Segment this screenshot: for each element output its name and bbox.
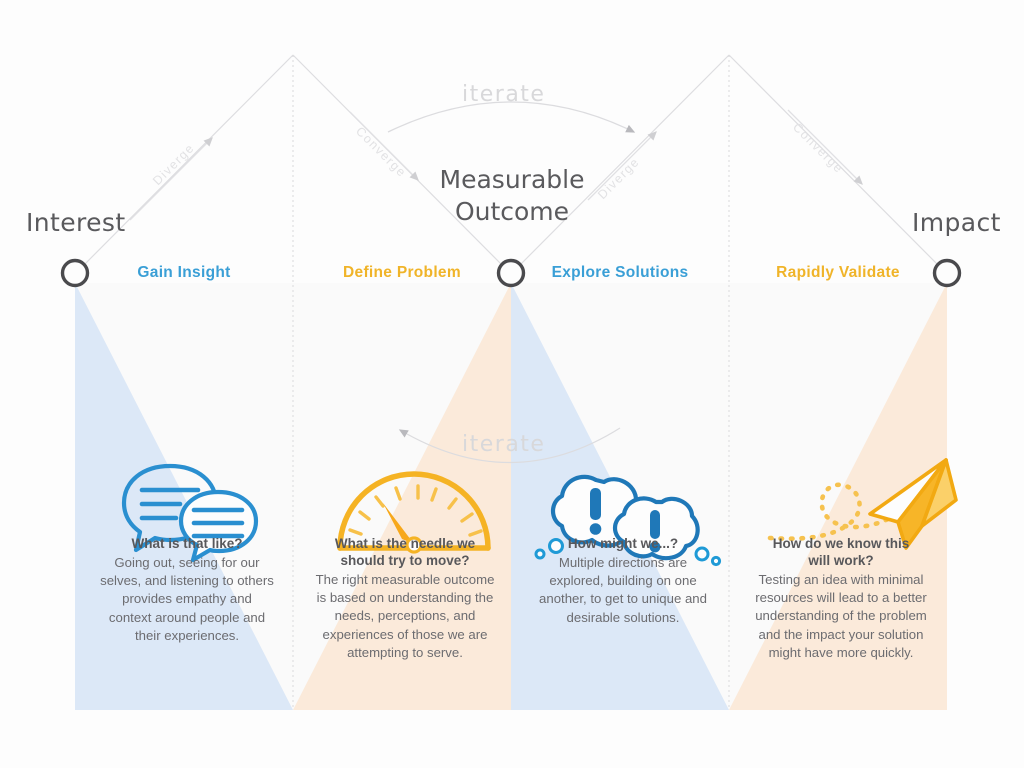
- column-rapidly-validate: How do we know this will work? Testing a…: [726, 430, 956, 662]
- column-define-problem: What is the needle we should try to move…: [290, 430, 520, 662]
- column-icon-slot-4: [726, 430, 956, 535]
- endpoint-label-interest: Interest: [26, 208, 126, 237]
- column-question-3: How might we...?: [508, 535, 738, 552]
- phase-label-gain-insight[interactable]: Gain Insight: [75, 264, 293, 282]
- column-question-1: What is that like?: [72, 535, 302, 552]
- column-question-4: How do we know this will work?: [726, 535, 956, 569]
- column-explore-solutions: How might we...? Multiple directions are…: [508, 430, 738, 627]
- column-icon-slot-2: [290, 430, 520, 535]
- column-question-2: What is the needle we should try to move…: [290, 535, 520, 569]
- column-icon-slot-1: [72, 430, 302, 535]
- phase-label-define-problem[interactable]: Define Problem: [293, 264, 511, 282]
- column-body-3: Multiple directions are explored, buildi…: [508, 554, 738, 627]
- column-gain-insight: What is that like? Going out, seeing for…: [72, 430, 302, 645]
- endpoint-label-impact: Impact: [912, 208, 1001, 237]
- column-body-2: The right measurable outcome is based on…: [290, 571, 520, 662]
- diagram-canvas: Interest Impact Measurable Outcome itera…: [0, 0, 1024, 768]
- column-body-1: Going out, seeing for our selves, and li…: [72, 554, 302, 645]
- column-body-4: Testing an idea with minimal resources w…: [726, 571, 956, 662]
- measurable-outcome-title: Measurable Outcome: [395, 164, 629, 228]
- diverge-arrow-1: [130, 138, 212, 220]
- phase-label-rapidly-validate[interactable]: Rapidly Validate: [729, 264, 947, 282]
- iterate-label-top: iterate: [462, 82, 545, 107]
- phase-label-explore-solutions[interactable]: Explore Solutions: [511, 264, 729, 282]
- column-icon-slot-3: [508, 430, 738, 535]
